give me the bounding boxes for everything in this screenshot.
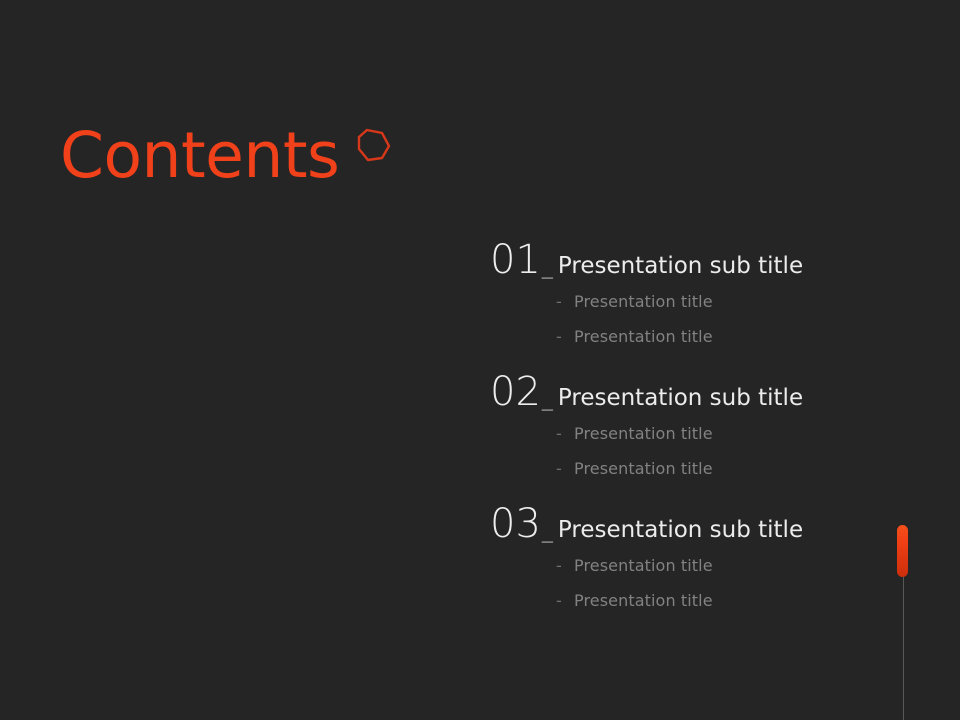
- content-group-number: 02: [490, 372, 541, 412]
- list-item-label: Presentation title: [574, 292, 713, 311]
- presentation-slide: Contents 01 _ Presentation sub title - P…: [0, 0, 960, 720]
- content-group-subtitle: Presentation sub title: [558, 387, 803, 410]
- dash-icon: -: [556, 556, 574, 575]
- list-item[interactable]: - Presentation title: [556, 292, 910, 311]
- content-group-bullets: - Presentation title - Presentation titl…: [490, 556, 910, 610]
- content-group-subtitle: Presentation sub title: [558, 255, 803, 278]
- content-group-heading[interactable]: 02 _ Presentation sub title: [490, 372, 910, 412]
- progress-track[interactable]: [903, 576, 904, 720]
- content-group: 02 _ Presentation sub title - Presentati…: [490, 372, 910, 478]
- list-item-label: Presentation title: [574, 459, 713, 478]
- content-group-heading[interactable]: 01 _ Presentation sub title: [490, 240, 910, 280]
- hexagon-outline-icon: [355, 128, 391, 164]
- content-group-heading[interactable]: 03 _ Presentation sub title: [490, 504, 910, 544]
- page-title: Contents: [60, 124, 339, 187]
- list-item[interactable]: - Presentation title: [556, 591, 910, 610]
- dash-icon: -: [556, 327, 574, 346]
- dash-icon: -: [556, 292, 574, 311]
- list-item-label: Presentation title: [574, 424, 713, 443]
- content-group-bullets: - Presentation title - Presentation titl…: [490, 424, 910, 478]
- list-item[interactable]: - Presentation title: [556, 424, 910, 443]
- content-group-separator: _: [542, 520, 553, 542]
- list-item[interactable]: - Presentation title: [556, 556, 910, 575]
- list-item[interactable]: - Presentation title: [556, 327, 910, 346]
- dash-icon: -: [556, 424, 574, 443]
- content-group-separator: _: [542, 388, 553, 410]
- list-item-label: Presentation title: [574, 556, 713, 575]
- content-group-number: 01: [490, 240, 541, 280]
- content-group-bullets: - Presentation title - Presentation titl…: [490, 292, 910, 346]
- contents-list: 01 _ Presentation sub title - Presentati…: [490, 240, 910, 610]
- dash-icon: -: [556, 459, 574, 478]
- list-item-label: Presentation title: [574, 591, 713, 610]
- list-item[interactable]: - Presentation title: [556, 459, 910, 478]
- content-group-separator: _: [542, 256, 553, 278]
- list-item-label: Presentation title: [574, 327, 713, 346]
- progress-thumb[interactable]: [897, 525, 908, 577]
- dash-icon: -: [556, 591, 574, 610]
- content-group-subtitle: Presentation sub title: [558, 519, 803, 542]
- content-group-number: 03: [490, 504, 541, 544]
- content-group: 03 _ Presentation sub title - Presentati…: [490, 504, 910, 610]
- content-group: 01 _ Presentation sub title - Presentati…: [490, 240, 910, 346]
- title-block: Contents: [60, 124, 391, 187]
